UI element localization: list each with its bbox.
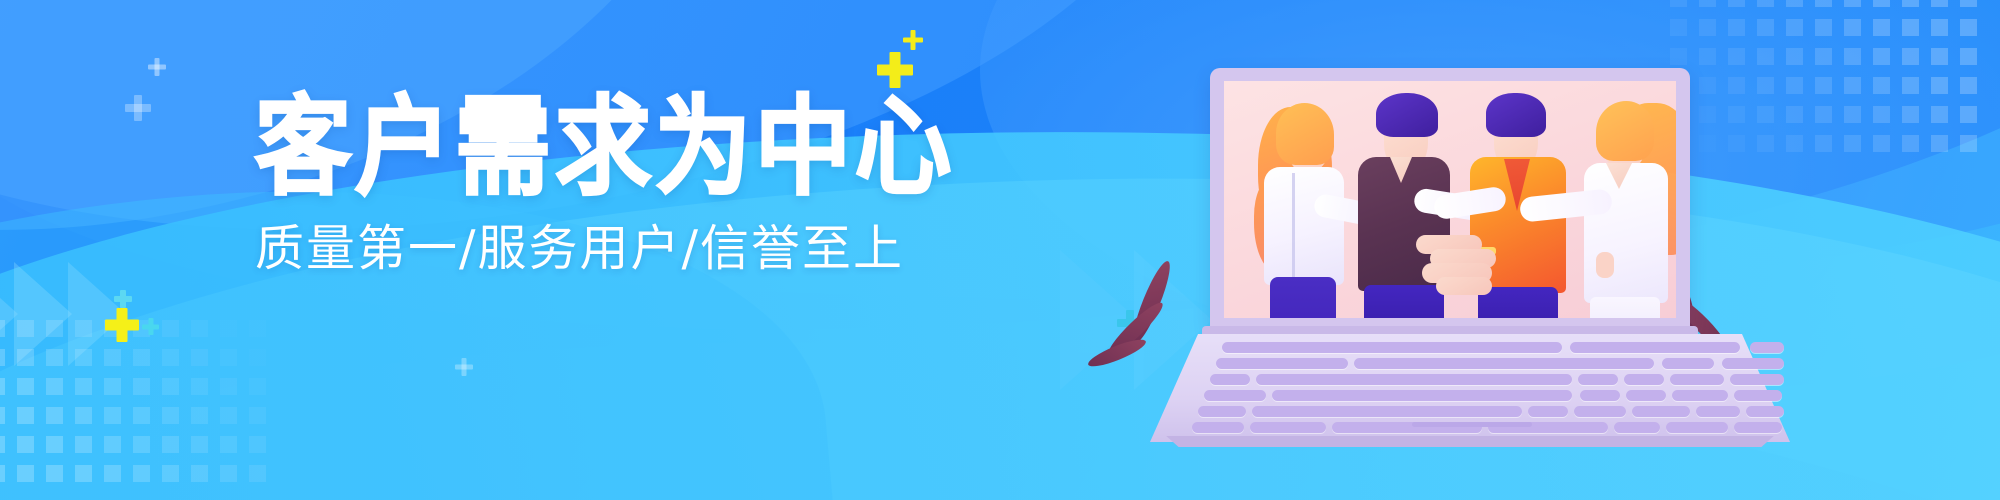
keyboard-key (1662, 358, 1714, 369)
promo-banner: 客户需求为中心 质量第一/服务用户/信誉至上 (0, 0, 2000, 500)
laptop-foot (1160, 436, 1780, 447)
keyboard-key (1272, 390, 1572, 401)
keyboard-key (1210, 374, 1250, 385)
keyboard-key (1614, 422, 1660, 433)
person-woman-left (1246, 81, 1358, 318)
keyboard-key (1570, 342, 1740, 353)
banner-text-block: 客户需求为中心 质量第一/服务用户/信誉至上 (255, 92, 955, 276)
keyboard-key (1734, 422, 1782, 433)
keyboard-key (1354, 358, 1654, 369)
keyboard-key (1632, 406, 1690, 417)
keyboard-row (1150, 406, 1790, 419)
plus-mark-cyan-small-icon (142, 318, 159, 335)
keyboard-row (1150, 390, 1790, 403)
plus-mark-cyan-medium-icon (114, 290, 132, 308)
keyboard-key (1624, 374, 1664, 385)
keyboard-key (1580, 390, 1620, 401)
keyboard-key (1574, 406, 1626, 417)
keyboard-row (1150, 358, 1790, 371)
plus-mark-white-medium-icon (125, 95, 151, 121)
stacked-hands-icon (1412, 231, 1508, 297)
keyboard-key (1670, 374, 1724, 385)
keyboard-key (1666, 422, 1728, 433)
plus-mark-white-lower-icon (455, 358, 473, 376)
keyboard-key (1734, 390, 1782, 401)
keyboard-key (1722, 358, 1784, 369)
laptop-screen-teamwork-scene (1224, 81, 1676, 318)
person-woman-right (1572, 81, 1676, 318)
keyboard-key (1216, 358, 1348, 369)
plus-mark-yellow-small-icon (903, 30, 923, 50)
laptop-lid (1210, 68, 1690, 330)
keyboard-key (1256, 374, 1572, 385)
keyboard-key (1750, 342, 1784, 353)
keyboard-key (1250, 422, 1326, 433)
keyboard-key (1730, 374, 1784, 385)
keyboard-key (1696, 406, 1740, 417)
keyboard-row (1150, 342, 1790, 355)
keyboard-key (1626, 390, 1666, 401)
laptop-trackpad (1412, 422, 1532, 427)
keyboard-key (1578, 374, 1618, 385)
keyboard-key (1198, 406, 1246, 417)
keyboard-key (1192, 422, 1244, 433)
keyboard-key (1222, 342, 1562, 353)
plus-mark-yellow-large-icon (877, 52, 913, 88)
keyboard-key (1746, 406, 1784, 417)
keyboard-key (1672, 390, 1728, 401)
laptop-illustration (1150, 68, 1790, 458)
keyboard-row (1150, 374, 1790, 387)
plus-mark-yellow-bottom-icon (105, 308, 139, 342)
plus-mark-white-small-icon (148, 58, 166, 76)
keyboard-key (1252, 406, 1522, 417)
banner-subtitle: 质量第一/服务用户/信誉至上 (255, 222, 955, 276)
keyboard-key (1204, 390, 1266, 401)
banner-headline: 客户需求为中心 (255, 92, 955, 204)
chevron-arrows-left-icon (0, 262, 320, 422)
keyboard-key (1528, 406, 1568, 417)
laptop-keyboard (1150, 336, 1790, 436)
